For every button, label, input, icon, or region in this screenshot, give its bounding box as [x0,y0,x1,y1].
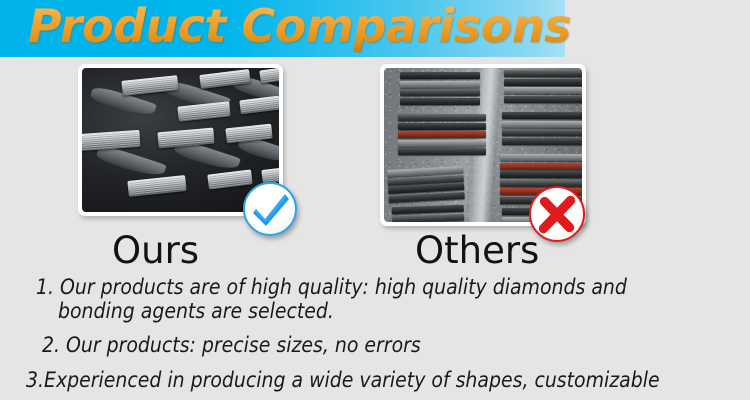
feature-list: 1. Our products are of high quality: hig… [0,276,750,392]
list-item: 1. Our products are of high quality: hig… [58,276,750,323]
others-label: Others [415,229,539,272]
check-icon [245,184,295,234]
list-item: 3.Experienced in producing a wide variet… [26,369,750,393]
header-banner: Product Comparisons [0,0,565,57]
list-item: 2. Our products: precise sizes, no error… [42,334,750,358]
comparison-slide: Product Comparisons [0,0,750,400]
ours-label: Ours [112,229,199,272]
check-badge [243,182,297,236]
page-title: Product Comparisons [28,0,571,55]
